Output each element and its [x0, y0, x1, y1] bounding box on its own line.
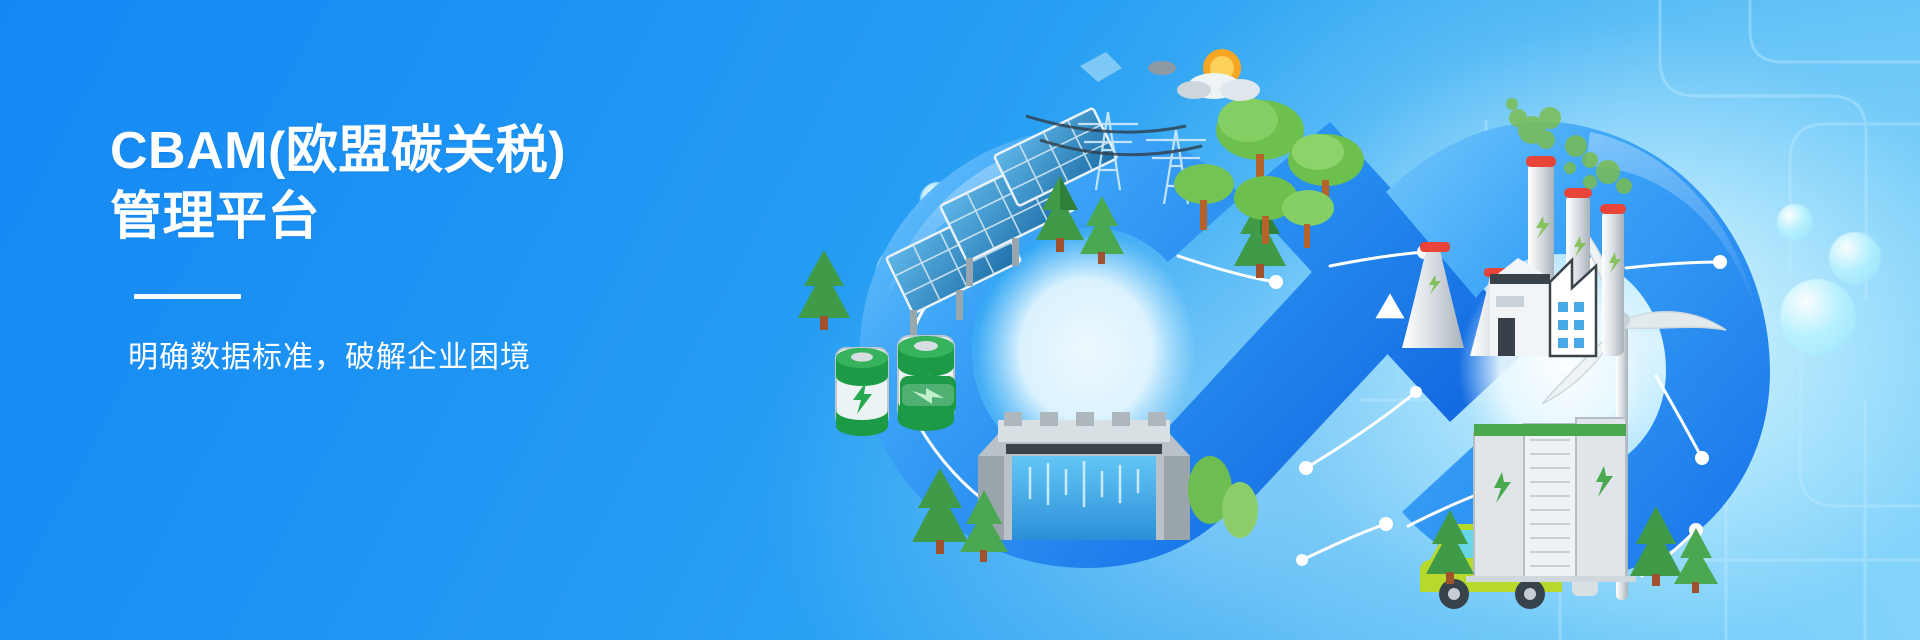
page-title-line1: CBAM(欧盟碳关税): [110, 122, 566, 180]
page-subtitle: 明确数据标准，破解企业困境: [128, 337, 830, 379]
carbon-neutral-illustration: [790, 20, 1920, 640]
title-divider: [134, 294, 241, 299]
page-title: CBAM(欧盟碳关税) 管理平台: [110, 118, 830, 250]
page-title-line2: 管理平台: [110, 188, 320, 246]
hero-text-block: CBAM(欧盟碳关税) 管理平台 明确数据标准，破解企业困境: [110, 118, 830, 379]
sun-and-clouds-icon: [1148, 49, 1260, 101]
cbam-hero-banner: CBAM(欧盟碳关税) 管理平台 明确数据标准，破解企业困境: [0, 0, 1920, 640]
